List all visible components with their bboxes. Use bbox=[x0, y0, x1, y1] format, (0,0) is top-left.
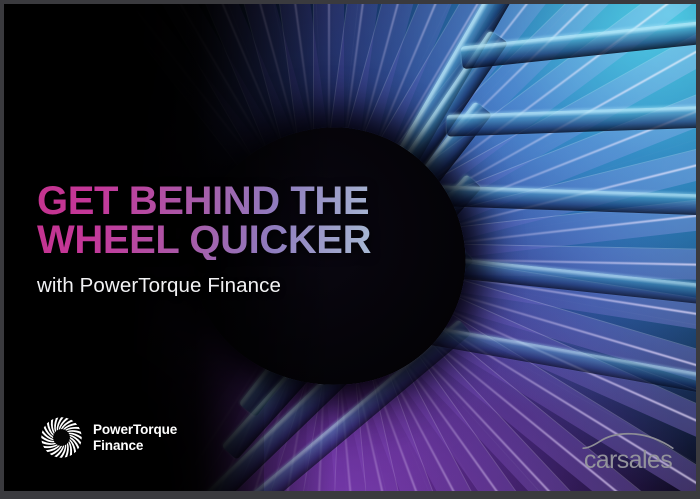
brand-name-line-2: Finance bbox=[93, 438, 177, 453]
brand-name-line-1: PowerTorque bbox=[93, 422, 177, 437]
powertorque-logo: PowerTorque Finance bbox=[40, 416, 177, 459]
bottom-left-dark-gradient bbox=[4, 291, 264, 491]
page-title: GET BEHIND THEWHEEL QUICKER bbox=[37, 182, 557, 260]
headline-line-1: GET BEHIND THE bbox=[37, 179, 369, 223]
subheadline: with PowerTorque Finance bbox=[37, 274, 557, 298]
headline-line-2: WHEEL QUICKER bbox=[37, 221, 557, 260]
carsales-wordmark: carsales bbox=[580, 448, 676, 473]
carsales-logo: carsales bbox=[580, 432, 676, 473]
banner-stage: GET BEHIND THEWHEEL QUICKER with PowerTo… bbox=[4, 4, 696, 491]
turbine-fan-icon bbox=[40, 416, 83, 459]
powertorque-wordmark: PowerTorque Finance bbox=[93, 422, 177, 452]
banner-frame: GET BEHIND THEWHEEL QUICKER with PowerTo… bbox=[0, 0, 700, 499]
banner-copy: GET BEHIND THEWHEEL QUICKER with PowerTo… bbox=[37, 182, 557, 298]
